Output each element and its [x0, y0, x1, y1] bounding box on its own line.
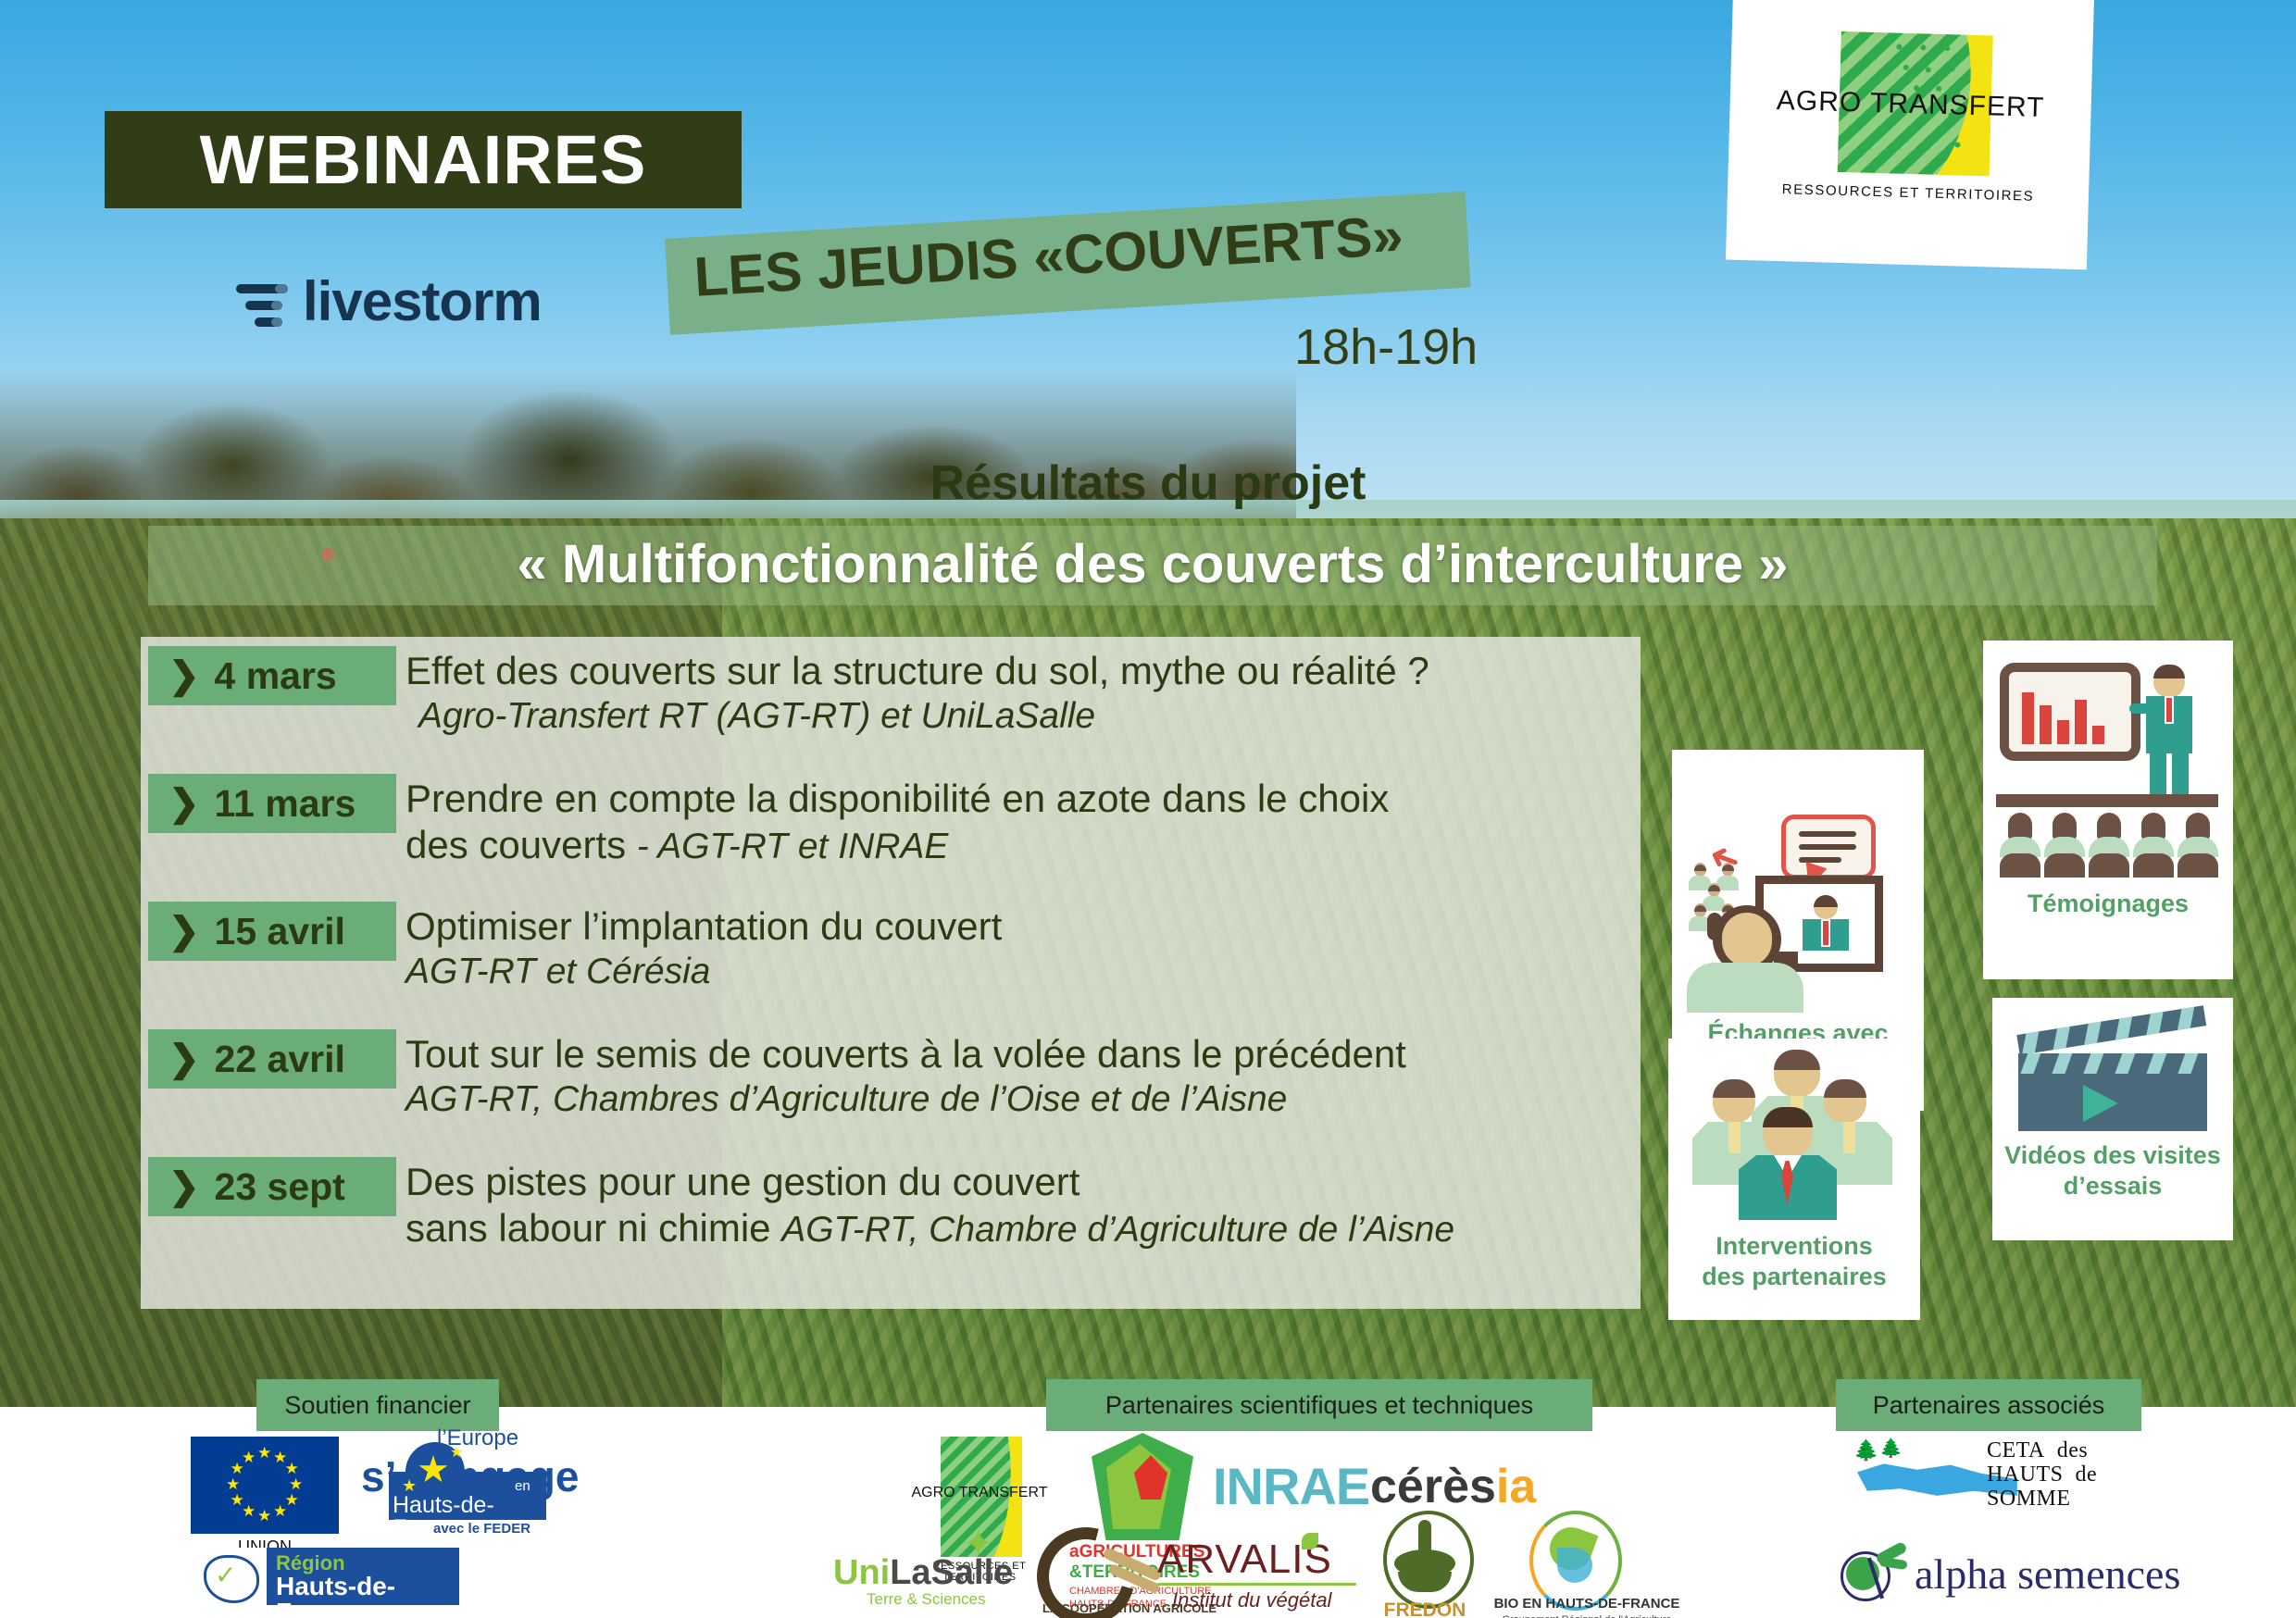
program-title: Des pistes pour une gestion du couvert: [406, 1159, 1628, 1205]
feature-card-temoignages[interactable]: Témoignages: [1983, 641, 2233, 979]
logo-arvalis-sub: Institut du végétal: [1172, 1588, 1331, 1612]
logo-ceta-hauts-de-somme: 🌲 🌲 CETA desHAUTS deSOMME: [1848, 1437, 2126, 1529]
feature-card-videos[interactable]: Vidéos des visites d’essais: [1992, 998, 2233, 1240]
program-speakers-label: - AGT-RT et INRAE: [637, 827, 949, 866]
time-range: 18h-19h: [1294, 322, 1478, 372]
logo-unilasalle-sub: Terre & Sciences: [867, 1590, 986, 1609]
eu-star-icon: ★: [273, 1503, 287, 1519]
agro-transfert-name: AGRO TRANSFERT: [1729, 84, 2091, 126]
feature-caption-line2: des partenaires: [1668, 1262, 1920, 1292]
feature-caption-line1: Témoignages: [1983, 889, 2233, 919]
eu-star-icon: ★: [284, 1461, 298, 1476]
logo-europe-sengage: ★ ★ ★ s’ ngage l’Europe en Hauts-de-Fran…: [361, 1425, 546, 1537]
project-title: « Multifonctionnalité des couverts d’int…: [148, 524, 2157, 605]
agro-transfert-logo: AGRO TRANSFERT RESSOURCES ET TERRITOIRES: [1726, 0, 2094, 269]
webinaires-banner: WEBINAIRES: [105, 111, 742, 208]
logo-dot: [1926, 67, 1931, 72]
footer-tab-associated: Partenaires associés: [1836, 1379, 2141, 1431]
footer-tab-financial: Soutien financier: [256, 1379, 499, 1431]
logo-union-europeenne: ★★★★★★★★★★★★: [191, 1437, 339, 1534]
footer-tab-associated-label: Partenaires associés: [1873, 1393, 2105, 1418]
program-date-badge: ❯22 avril: [148, 1029, 396, 1089]
logo-region-label: Région: [276, 1553, 345, 1574]
chevron-right-icon: ❯: [168, 1040, 200, 1077]
program-date-label: 23 sept: [215, 1168, 345, 1206]
logo-alpha-semences-label: alpha semences: [1915, 1550, 2180, 1599]
logo-dot: [1950, 66, 1955, 71]
poster-root: WEBINAIRES livestorm LES JEUDIS «COUVERT…: [0, 0, 2296, 1618]
program-date-badge: ❯15 avril: [148, 902, 396, 961]
program-date-label: 15 avril: [215, 913, 345, 951]
speech-bubble-icon: [1781, 815, 1876, 879]
eu-star-icon: ★: [289, 1476, 303, 1492]
chevron-right-icon: ❯: [168, 1168, 200, 1205]
logo-bio-sub: Groupement Régional de l'Agriculture Bio…: [1485, 1614, 1689, 1618]
feature-card-interventions[interactable]: Interventions des partenaires: [1668, 1039, 1920, 1320]
logo-alpha-semences: alpha semences: [1833, 1548, 2185, 1603]
chevron-right-icon: ❯: [168, 913, 200, 950]
feature-caption-line1: Interventions: [1668, 1231, 1920, 1262]
program-speakers-label: AGT-RT, Chambre d’Agriculture de l’Aisne: [781, 1210, 1454, 1250]
program-title: Effet des couverts sur la structure du s…: [406, 648, 1628, 694]
clapperboard-play-icon: [2018, 1013, 2207, 1131]
program-speakers: AGT-RT, Chambres d’Agriculture de l’Oise…: [406, 1077, 1628, 1122]
eu-star-icon: ★: [257, 1445, 271, 1461]
logo-bio-hauts-de-france: BIO EN HAUTS-DE-FRANCE Groupement Région…: [1485, 1511, 1689, 1612]
logo-agro-transfert-footer-label: AGRO TRANSFERT: [896, 1485, 1063, 1501]
program-title: Optimiser l’implantation du couvert: [406, 903, 1628, 950]
agro-transfert-tagline: RESSOURCES ET TERRITOIRES: [1728, 180, 2089, 206]
program-date-label: 4 mars: [215, 657, 337, 695]
eu-star-icon: ★: [242, 1450, 256, 1465]
program-date-label: 22 avril: [215, 1040, 345, 1078]
program-date-badge: ❯4 mars: [148, 646, 396, 705]
logo-dot: [1940, 127, 1946, 132]
eu-star-icon: ★: [231, 1492, 244, 1508]
webinaires-label: WEBINAIRES: [200, 126, 647, 194]
program-subtitle-prefix: sans labour ni chimie: [406, 1206, 781, 1250]
program-title: Prendre en compte la disponibilité en az…: [406, 776, 1628, 822]
logo-inrae: INRAE: [1213, 1461, 1369, 1512]
program-date-badge: ❯11 mars: [148, 774, 396, 833]
project-kicker: Résultats du projet: [0, 459, 2296, 507]
program-date-label: 11 mars: [215, 785, 356, 823]
program-speakers: sans labour ni chimie AGT-RT, Chambre d’…: [406, 1205, 1628, 1253]
group-people-icon: [1685, 1052, 1907, 1218]
logo-region-hauts-de-france: ✓ Région Hauts-de-France: [191, 1548, 459, 1605]
logo-ceresia: cérèsia: [1370, 1459, 1536, 1514]
feature-caption-line2: d’essais: [1992, 1171, 2233, 1201]
livestorm-logo: livestorm: [236, 274, 542, 330]
logo-dot: [1903, 65, 1909, 70]
program-speakers: Agro-Transfert RT (AGT-RT) et UniLaSalle: [406, 694, 1628, 739]
feature-caption-line1: Vidéos des visites: [1992, 1140, 2233, 1171]
footer-tab-scientific-label: Partenaires scientifiques et techniques: [1105, 1393, 1533, 1418]
program-speakers: des couverts - AGT-RT et INRAE: [406, 822, 1628, 870]
logo-dot: [1920, 44, 1926, 50]
program-date-badge: ❯23 sept: [148, 1157, 396, 1216]
livestorm-wordmark: livestorm: [303, 274, 542, 330]
logo-unilasalle: ✦ UniLaSalle Terre & Sciences: [833, 1537, 1046, 1611]
logo-dot: [1944, 45, 1950, 51]
logo-bio-label: BIO EN HAUTS-DE-FRANCE: [1485, 1596, 1689, 1612]
footer-tab-scientific: Partenaires scientifiques et techniques: [1046, 1379, 1592, 1431]
logo-dot: [1954, 142, 1960, 147]
footer-tab-financial-label: Soutien financier: [284, 1393, 470, 1418]
program-list: ❯4 marsEffet des couverts sur la structu…: [141, 637, 1641, 1309]
eu-star-icon: ★: [226, 1476, 240, 1492]
program-title: Tout sur le semis de couverts à la volée…: [406, 1031, 1628, 1077]
chevron-right-icon: ❯: [168, 657, 200, 694]
livestorm-mark-icon: [236, 279, 288, 325]
video-conference-icon: ➜ ➜: [1685, 815, 1911, 1000]
program-speakers: AGT-RT et Cérésia: [406, 950, 1628, 994]
logo-dot: [1896, 44, 1902, 50]
presentation-audience-icon: [1994, 659, 2224, 872]
logo-region-sub: Hauts-de-France: [276, 1574, 459, 1618]
program-subtitle-prefix: des couverts: [406, 823, 637, 866]
eu-star-icon: ★: [257, 1508, 271, 1524]
chevron-right-icon: ❯: [168, 785, 200, 822]
